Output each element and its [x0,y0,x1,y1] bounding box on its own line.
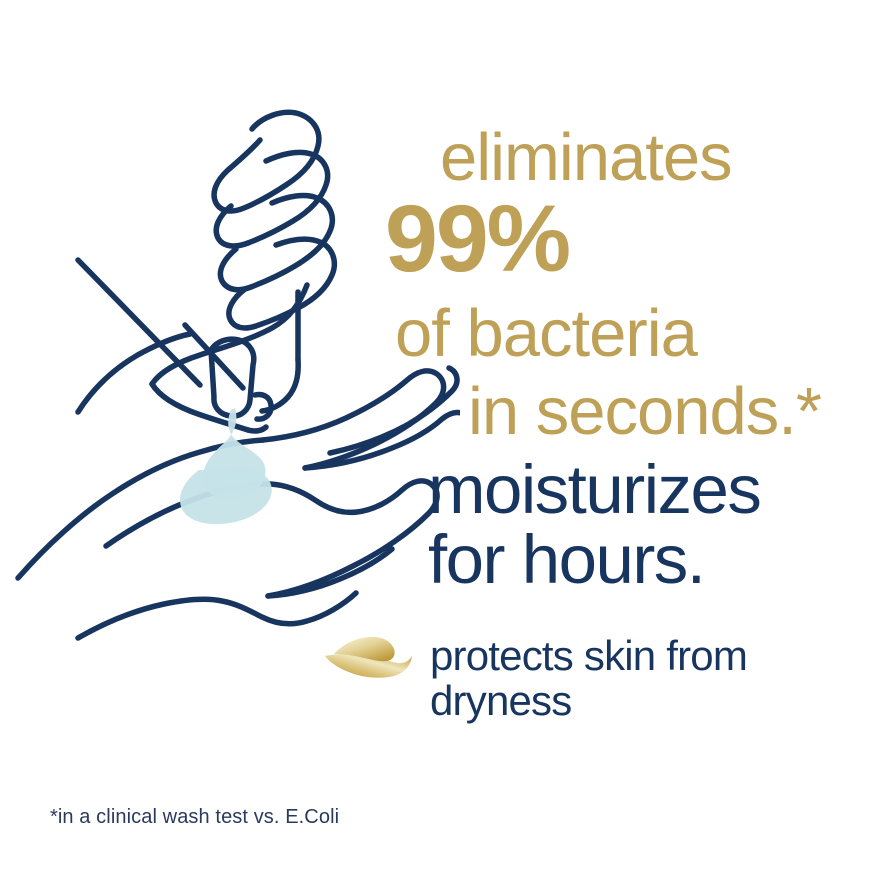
wrist-lines [78,260,200,412]
headline-line-in-seconds: in seconds.* [468,378,821,445]
headline-line-percentage: 99% [385,192,569,287]
gripping-hand-fingers [214,112,334,328]
hand-washing-illustration [0,0,460,700]
dove-bird-logo [322,634,414,680]
headline-line-of-bacteria: of bacteria [395,300,697,367]
soap-drop-pool [180,468,272,524]
claim-line-1: protects skin from [430,634,870,679]
headline-line-for-hours: for hours. [428,525,704,594]
footnote-disclaimer: *in a clinical wash test vs. E.Coli [50,806,339,829]
claim-text: protects skin from dryness [430,634,870,724]
advertisement-poster: eliminates 99% of bacteria in seconds.* … [0,0,884,884]
claim-line-2: dryness [430,679,870,724]
headline-line-eliminates: eliminates [440,124,732,191]
headline-line-moisturizes: moisturizes [428,455,760,524]
